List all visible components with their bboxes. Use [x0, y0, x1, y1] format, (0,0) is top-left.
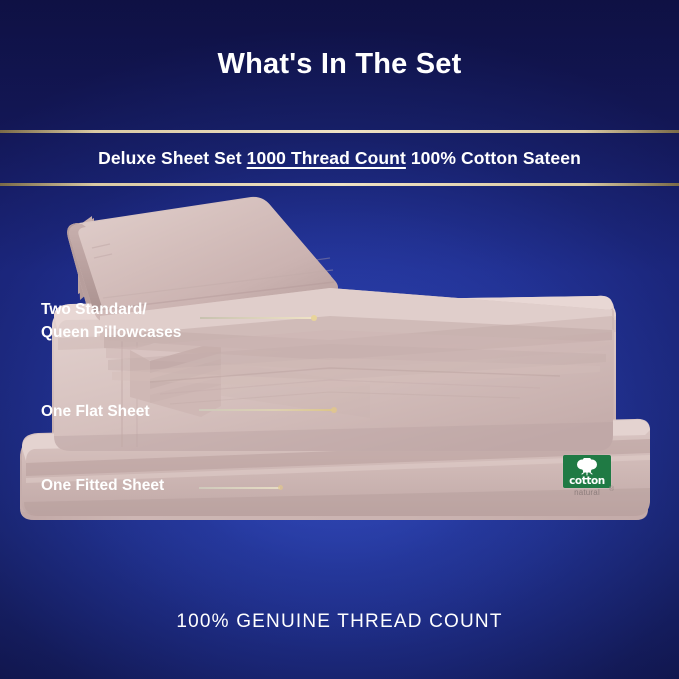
cotton-boll-icon: [574, 458, 600, 476]
callout-pillowcases-line1: Two Standard/: [41, 298, 181, 321]
callout-flat-sheet-line1: One Flat Sheet: [41, 400, 150, 423]
divider-bottom: [0, 183, 679, 186]
subtitle-bar: Deluxe Sheet Set 1000 Thread Count 100% …: [0, 133, 679, 183]
callout-pillowcases-line2: Queen Pillowcases: [41, 321, 181, 344]
leader-line-fitted-sheet: [199, 487, 280, 489]
callout-fitted-sheet-line1: One Fitted Sheet: [41, 474, 164, 497]
subtitle: Deluxe Sheet Set 1000 Thread Count 100% …: [98, 148, 581, 169]
leader-line-pillowcases: [200, 317, 314, 319]
leader-line-flat-sheet: [199, 409, 334, 411]
page-title: What's In The Set: [0, 48, 679, 81]
footer-text: 100% GENUINE THREAD COUNT: [0, 611, 679, 633]
registered-mark: ®: [609, 486, 614, 493]
callout-flat-sheet: One Flat Sheet: [41, 400, 150, 423]
promo-image: What's In The Set Deluxe Sheet Set 1000 …: [0, 0, 679, 679]
subtitle-after: 100% Cotton Sateen: [406, 148, 581, 168]
leader-dot-flat-sheet: [331, 407, 337, 413]
cotton-wordmark: cotton: [563, 475, 611, 487]
cotton-badge-sub: natural: [563, 488, 611, 497]
subtitle-before: Deluxe Sheet Set: [98, 148, 247, 168]
leader-dot-fitted-sheet: [278, 485, 283, 490]
leader-dot-pillowcases: [311, 315, 317, 321]
subtitle-underlined: 1000 Thread Count: [247, 148, 406, 168]
callout-fitted-sheet: One Fitted Sheet: [41, 474, 164, 497]
cotton-badge: cotton: [563, 455, 611, 488]
callout-pillowcases: Two Standard/ Queen Pillowcases: [41, 298, 181, 344]
product-scene: [0, 190, 679, 570]
